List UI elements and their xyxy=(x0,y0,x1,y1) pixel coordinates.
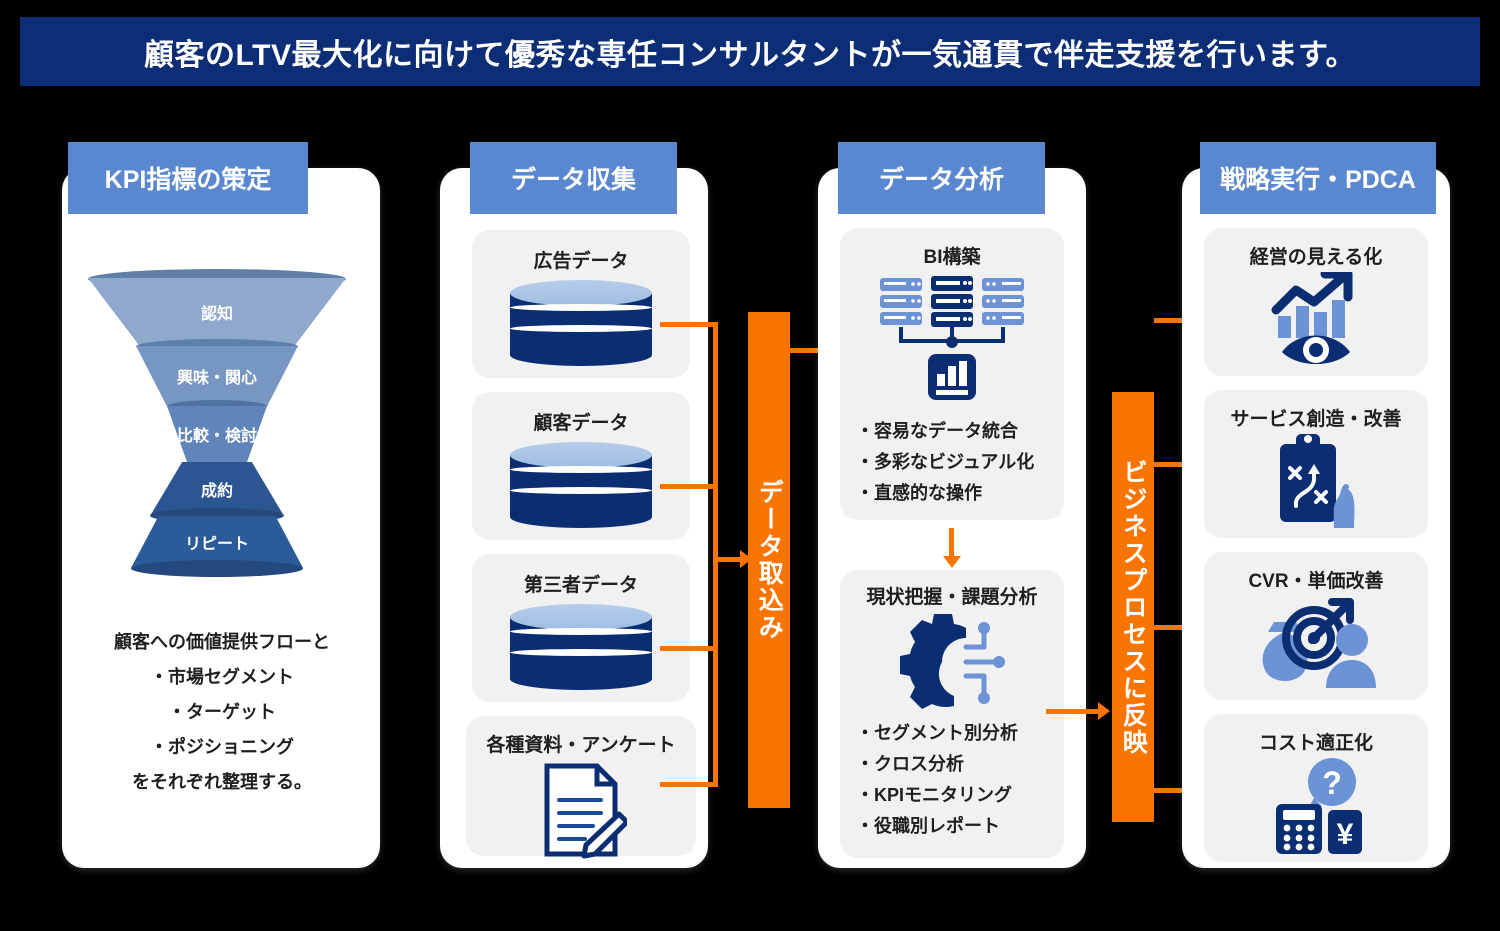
card-title: 顧客データ xyxy=(472,408,690,435)
card-thirdparty-data[interactable]: 第三者データ xyxy=(472,554,690,702)
column-header-analyze: データ分析 xyxy=(838,142,1045,214)
connector-line xyxy=(949,528,954,558)
database-icon xyxy=(510,280,652,362)
column-header-kpi-label: KPI指標の策定 xyxy=(105,160,272,196)
reflect-bar: ビジネスプロセスに反映 xyxy=(1112,392,1154,822)
bullet-item: ・容易なデータ統合 xyxy=(856,416,1034,447)
bullet-item: ・KPIモニタリング xyxy=(856,780,1018,811)
connector-line xyxy=(1046,709,1100,714)
database-icon xyxy=(510,442,652,524)
ingest-bar: データ取込み xyxy=(748,312,790,808)
money-target-person-icon xyxy=(1252,596,1376,695)
funnel-stage-comparison: 比較・検討 xyxy=(167,406,267,462)
gear-circuit-icon xyxy=(898,614,1006,715)
document-pencil-icon xyxy=(535,760,627,860)
chart-growth-eye-icon xyxy=(1270,272,1362,373)
column-header-analyze-label: データ分析 xyxy=(879,160,1004,196)
kpi-funnel: 認知 興味・関心 比較・検討 成約 リピート xyxy=(88,278,346,563)
connector-arrow xyxy=(1098,702,1110,720)
card-bi-build[interactable]: BI構築 xyxy=(840,228,1064,520)
card-title: CVR・単価改善 xyxy=(1204,566,1428,593)
funnel-label: 興味・関心 xyxy=(177,364,257,388)
card-visualize-management[interactable]: 経営の見える化 xyxy=(1204,228,1428,376)
analysis-bullets: ・セグメント別分析 ・クロス分析 ・KPIモニタリング ・役職別レポート xyxy=(856,718,1018,842)
card-current-analysis[interactable]: 現状把握・課題分析 ・セグメント別分析 ・クロス分析 ・KPIモニタリング xyxy=(840,570,1064,858)
connector-line xyxy=(660,646,718,651)
card-cost-optimization[interactable]: コスト適正化 ? ¥ xyxy=(1204,714,1428,862)
connector-line xyxy=(713,557,743,562)
ingest-bar-label: データ取込み xyxy=(756,479,783,641)
server-barchart-icon xyxy=(878,276,1026,407)
column-header-collect: データ収集 xyxy=(470,142,677,214)
connector-line xyxy=(660,322,718,327)
calculator-yen-question-icon: ? ¥ xyxy=(1270,756,1366,859)
kpi-note-line2: をそれぞれ整理する。 xyxy=(72,765,372,800)
connector-line xyxy=(660,484,718,489)
card-title: 経営の見える化 xyxy=(1204,242,1428,269)
card-service-improvement[interactable]: サービス創造・改善 xyxy=(1204,390,1428,538)
connector-trunk xyxy=(713,322,718,787)
funnel-label: リピート xyxy=(185,530,249,554)
kpi-note-line1: 顧客への価値提供フローと xyxy=(72,625,372,660)
funnel-label: 認知 xyxy=(201,300,233,324)
page-banner: 顧客のLTV最大化に向けて優秀な専任コンサルタントが一気通貫で伴走支援を行います… xyxy=(20,17,1480,86)
funnel-label: 成約 xyxy=(201,477,233,501)
funnel-stage-repeat: リピート xyxy=(131,516,303,568)
connector-arrow xyxy=(943,556,961,568)
funnel-label: 比較・検討 xyxy=(177,422,257,446)
infographic-canvas: 顧客のLTV最大化に向けて優秀な専任コンサルタントが一気通貫で伴走支援を行います… xyxy=(0,0,1500,931)
kpi-note-bullet: ・市場セグメント xyxy=(72,660,372,695)
reflect-bar-label: ビジネスプロセスに反映 xyxy=(1120,459,1147,756)
kpi-note-bullet: ・ターゲット xyxy=(72,695,372,730)
bullet-item: ・クロス分析 xyxy=(856,749,1018,780)
card-title: 広告データ xyxy=(472,246,690,273)
bullet-item: ・多彩なビジュアル化 xyxy=(856,447,1034,478)
column-header-execute: 戦略実行・PDCA xyxy=(1200,142,1436,214)
card-ad-data[interactable]: 広告データ xyxy=(472,230,690,378)
svg-text:¥: ¥ xyxy=(1337,818,1354,851)
column-header-execute-label: 戦略実行・PDCA xyxy=(1220,160,1416,196)
card-title: 現状把握・課題分析 xyxy=(840,582,1064,609)
column-header-kpi: KPI指標の策定 xyxy=(68,142,308,214)
database-icon xyxy=(510,604,652,686)
card-cvr-improvement[interactable]: CVR・単価改善 xyxy=(1204,552,1428,700)
bullet-item: ・セグメント別分析 xyxy=(856,718,1018,749)
banner-title: 顧客のLTV最大化に向けて優秀な専任コンサルタントが一気通貫で伴走支援を行います… xyxy=(144,30,1356,74)
bullet-item: ・役職別レポート xyxy=(856,811,1018,842)
card-title: 第三者データ xyxy=(472,570,690,597)
bullet-item: ・直感的な操作 xyxy=(856,478,1034,509)
card-title: 各種資料・アンケート xyxy=(466,730,696,757)
funnel-stage-awareness: 認知 xyxy=(88,278,346,346)
funnel-stage-contract: 成約 xyxy=(150,462,284,516)
card-title: サービス創造・改善 xyxy=(1204,404,1428,431)
card-title: コスト適正化 xyxy=(1204,728,1428,755)
connector-line xyxy=(660,782,718,787)
column-header-collect-label: データ収集 xyxy=(511,160,636,196)
card-customer-data[interactable]: 顧客データ xyxy=(472,392,690,540)
card-title: BI構築 xyxy=(840,242,1064,269)
kpi-note-bullet: ・ポジショニング xyxy=(72,730,372,765)
svg-text:?: ? xyxy=(1322,765,1342,801)
bi-bullets: ・容易なデータ統合 ・多彩なビジュアル化 ・直感的な操作 xyxy=(856,416,1034,509)
clipboard-strategy-icon xyxy=(1272,432,1362,535)
kpi-note: 顧客への価値提供フローと ・市場セグメント ・ターゲット ・ポジショニング をそ… xyxy=(72,625,372,800)
funnel-stage-interest: 興味・関心 xyxy=(136,346,298,406)
